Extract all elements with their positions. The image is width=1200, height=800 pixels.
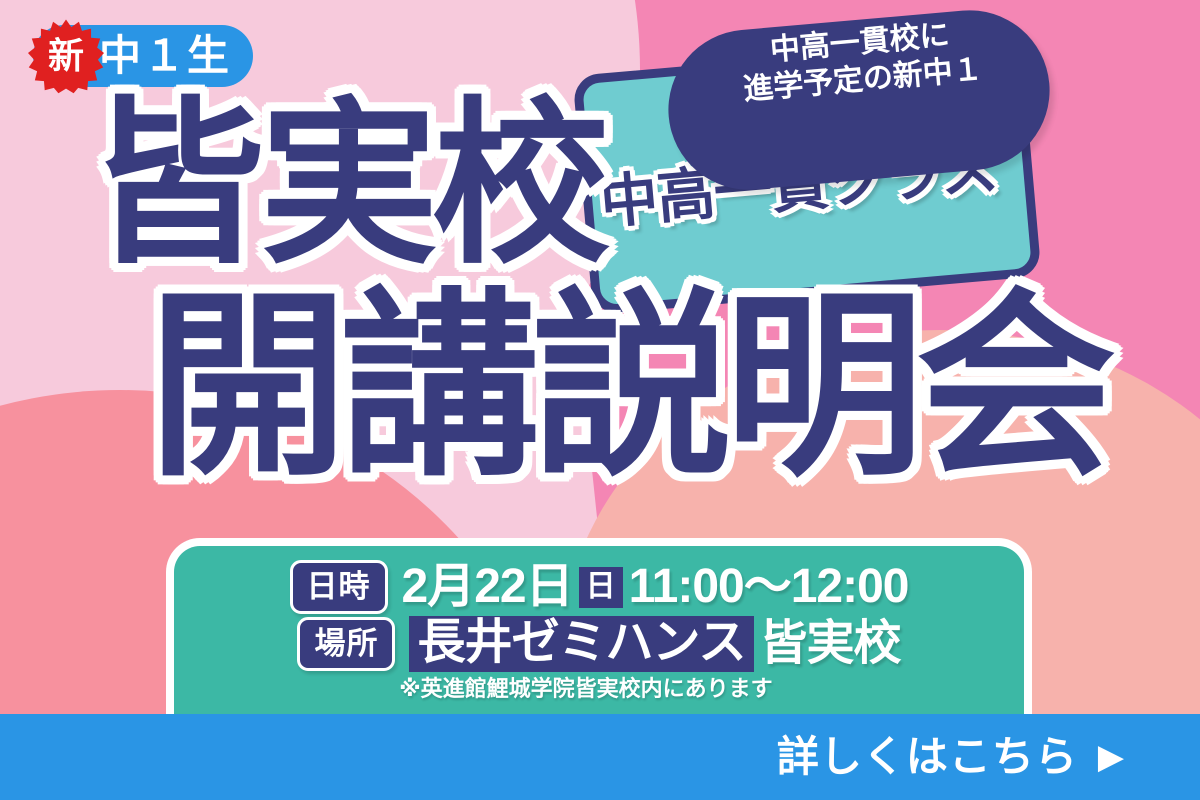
promo-banner: 中１生 新 中高一貫クラス 中高一貫校に 進学予定の新中１ 皆実校 開講説明会 … <box>0 0 1200 800</box>
date-value: 2月22日 日 11:00〜12:00 <box>402 563 909 611</box>
event-info-panel: 日時 2月22日 日 11:00〜12:00 場所 長井ゼミハンス 皆実校 ※英… <box>166 538 1032 714</box>
place-value: 長井ゼミハンス 皆実校 <box>409 616 900 672</box>
headline-line-1: 皆実校 <box>88 96 604 274</box>
cta-bar[interactable]: 詳しくはこちら ▶ <box>0 714 1200 800</box>
place-branch: 皆実校 <box>760 620 901 668</box>
grade-badge-label: 中１生 <box>99 35 231 77</box>
place-tag: 場所 <box>297 617 395 671</box>
place-name: 長井ゼミハンス <box>409 616 753 672</box>
date-tag: 日時 <box>290 560 388 614</box>
date-time: 11:00〜12:00 <box>629 563 909 611</box>
place-note: ※英進館鯉城学院皆実校内にあります <box>174 678 1024 700</box>
date-month-day: 2月22日 <box>402 563 573 611</box>
date-weekday: 日 <box>579 567 623 608</box>
event-place-row: 場所 長井ゼミハンス 皆実校 <box>174 616 1024 672</box>
starburst-label: 新 <box>28 18 104 94</box>
event-date-row: 日時 2月22日 日 11:00〜12:00 <box>174 560 1024 614</box>
headline-line-2: 開講説明会 <box>148 288 1108 488</box>
play-arrow-icon[interactable]: ▶ <box>1098 740 1124 774</box>
cta-label[interactable]: 詳しくはこちら <box>777 736 1078 778</box>
